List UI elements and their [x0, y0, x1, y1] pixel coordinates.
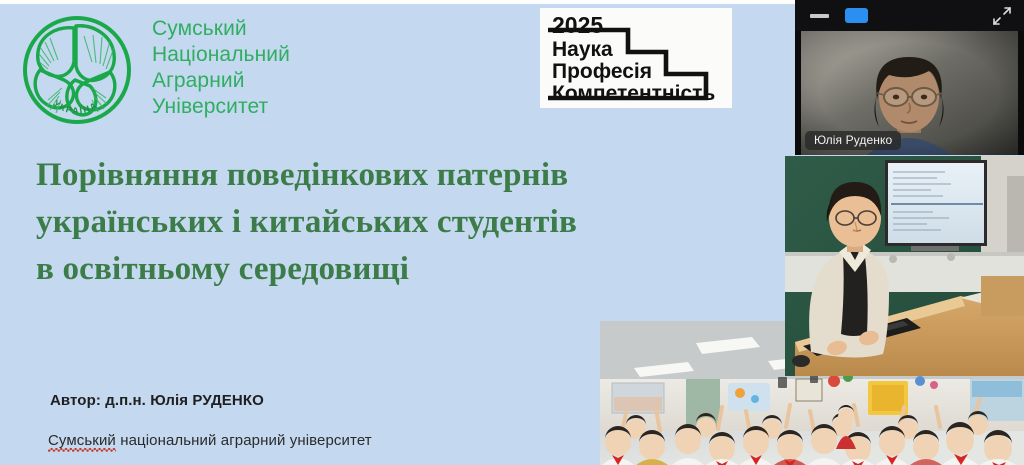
- conference-line1-text: Наука: [552, 38, 613, 61]
- university-name-text: Сумський Національний Аграрний Університ…: [152, 16, 342, 120]
- video-panel-toolbar: [795, 0, 1024, 31]
- presentation-slide: УКРАЇНА Сумський Національний Аграрний У…: [0, 0, 1024, 465]
- university-logo: УКРАЇНА Сумський Національний Аграрний У…: [14, 10, 334, 130]
- lecturer-photo: [785, 156, 1024, 376]
- university-emblem-icon: УКРАЇНА: [18, 14, 136, 126]
- conference-emblem: 2025 Наука Професія Компетентність: [540, 8, 732, 108]
- expand-icon[interactable]: [992, 6, 1012, 26]
- camera-on-icon[interactable]: [845, 8, 868, 23]
- affiliation-misspelled-word: Сумський: [48, 432, 116, 452]
- conference-line2-text: Професія: [552, 60, 652, 83]
- video-call-panel[interactable]: Юлія Руденко: [795, 0, 1024, 155]
- affiliation-rest-text: національний аграрний університет: [116, 432, 372, 449]
- affiliation-text: Сумський національний аграрний університ…: [48, 432, 372, 449]
- conference-year-text: 2025: [552, 12, 603, 38]
- conference-line3-text: Компетентність: [552, 82, 715, 105]
- author-text: Автор: д.п.н. Юлія РУДЕНКО: [50, 392, 264, 409]
- minimize-icon[interactable]: [810, 14, 829, 18]
- page-title: Порівняння поведінкових патернів українс…: [36, 152, 596, 293]
- participant-name-badge: Юлія Руденко: [805, 131, 901, 150]
